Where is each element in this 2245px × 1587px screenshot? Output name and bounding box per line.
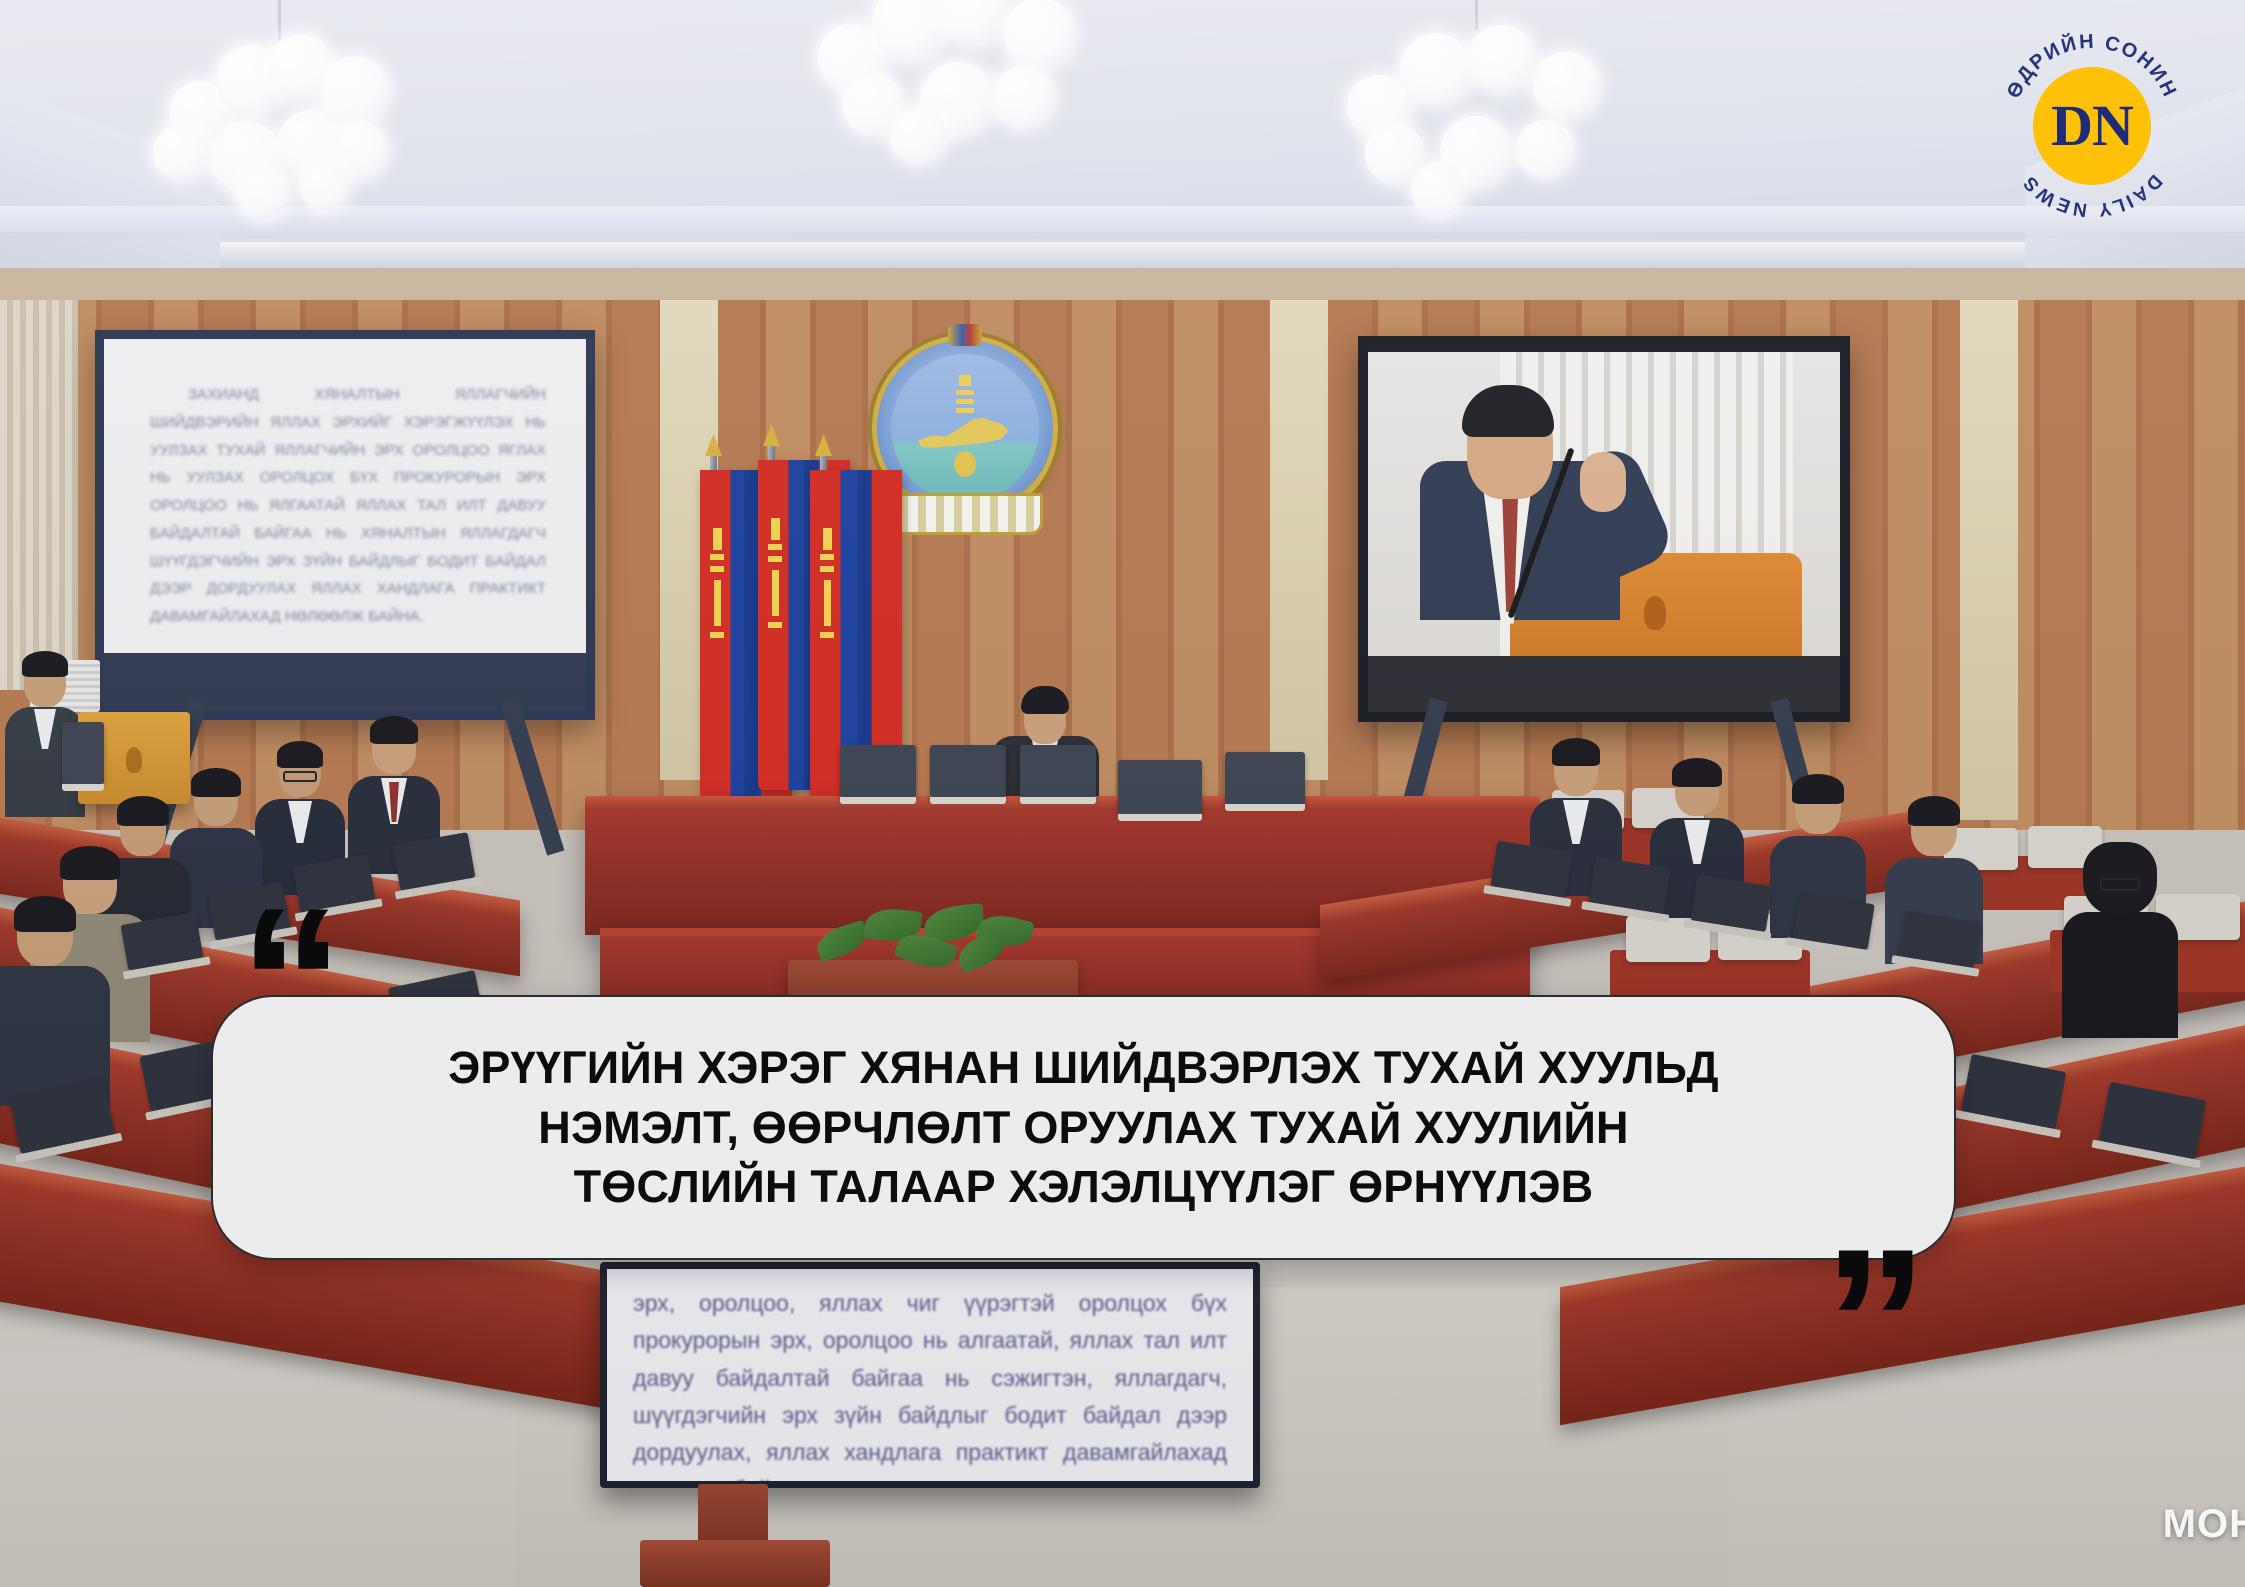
logo-disc: DN bbox=[2033, 67, 2151, 185]
caption-headline: ЭРҮҮГИЙН ХЭРЭГ ХЯНАН ШИЙДВЭРЛЭХ ТУХАЙ ХУ… bbox=[370, 1038, 1797, 1218]
soyombo-symbol bbox=[954, 375, 976, 423]
bottom-monitor-base bbox=[640, 1540, 830, 1587]
video-speaker-hand bbox=[1580, 452, 1626, 512]
emblem-inner bbox=[891, 354, 1039, 502]
delegate-right-3-hair bbox=[1792, 774, 1844, 804]
delegate-right-1-hair bbox=[1552, 738, 1600, 766]
bottom-slide-text: эрх, оролцоо, яллах чиг үүрэгтэй оролцох… bbox=[607, 1269, 1253, 1481]
dais-monitor-1 bbox=[840, 745, 916, 797]
flag-soyombo-2 bbox=[767, 518, 783, 636]
standing-speaker-hair bbox=[22, 651, 68, 677]
delegate-left-2-glasses bbox=[283, 771, 317, 782]
delegate-left-6 bbox=[0, 900, 110, 1100]
delegate-right-5-glasses bbox=[2100, 878, 2140, 891]
dais-monitor-2 bbox=[930, 745, 1006, 797]
broadcaster-watermark: МОН bbox=[2163, 1502, 2245, 1547]
dais-monitor-4 bbox=[1118, 760, 1202, 814]
caption-line-1: ЭРҮҮГИЙН ХЭРЭГ ХЯНАН ШИЙДВЭРЛЭХ ТУХАЙ ХУ… bbox=[448, 1042, 1719, 1093]
delegate-right-5 bbox=[2062, 846, 2178, 1036]
flag-soyombo-1 bbox=[709, 528, 725, 646]
caption-line-2: НЭМЭЛТ, ӨӨРЧЛӨЛТ ОРУУЛАХ ТУХАЙ ХУУЛИЙН bbox=[538, 1102, 1628, 1153]
news-photo-card: ЗАХИАНД ХЯНАЛТЫН ЯЛЛАГЧИЙН ШИЙДВЭРИЙН ЯЛ… bbox=[0, 0, 2245, 1587]
chandelier-left bbox=[148, 20, 408, 200]
window-curtain bbox=[0, 300, 78, 690]
delegate-right-4-hair bbox=[1908, 796, 1960, 826]
emblem-lotus-base bbox=[890, 496, 1040, 532]
dais-monitor-3 bbox=[1020, 745, 1096, 797]
center-plant bbox=[800, 900, 1070, 978]
left-projection-screen: ЗАХИАНД ХЯНАЛТЫН ЯЛЛАГЧИЙН ШИЙДВЭРИЙН ЯЛ… bbox=[95, 330, 595, 720]
wall-pillar-far-right bbox=[1960, 300, 2018, 820]
delegate-left-4-hair bbox=[117, 796, 169, 826]
laptop-right-8 bbox=[1961, 1054, 2066, 1129]
wall-pillar-right bbox=[1270, 300, 1328, 780]
caption-card-wrapper: “ ЭРҮҮГИЙН ХЭРЭГ ХЯНАН ШИЙДВЭРЛЭХ ТУХАЙ … bbox=[211, 995, 1956, 1260]
delegate-left-3-hair bbox=[191, 768, 241, 797]
dais-monitor-5 bbox=[1225, 752, 1305, 804]
mongolian-state-emblem bbox=[877, 340, 1053, 516]
chairman-hair bbox=[1021, 686, 1069, 714]
cornice-inner bbox=[0, 206, 2245, 232]
delegate-left-5-hair bbox=[60, 846, 120, 880]
right-video-screen bbox=[1358, 336, 1850, 722]
flag-soyombo-3 bbox=[819, 528, 835, 646]
chandelier-center bbox=[800, 0, 1100, 146]
caption-card: ЭРҮҮГИЙН ХЭРЭГ ХЯНАН ШИЙДВЭРЛЭХ ТУХАЙ ХУ… bbox=[211, 995, 1956, 1260]
left-slide-paragraph: ЗАХИАНД ХЯНАЛТЫН ЯЛЛАГЧИЙН ШИЙДВЭРИЙН ЯЛ… bbox=[150, 381, 546, 631]
podium-monitor bbox=[62, 722, 104, 784]
daily-news-logo[interactable]: ӨДРИЙН СОНИН DAILY NEWS DN bbox=[1994, 28, 2190, 224]
emblem-wheel bbox=[954, 451, 976, 477]
bottom-slide-monitor: эрх, оролцоо, яллах чиг үүрэгтэй оролцох… bbox=[600, 1262, 1260, 1488]
bottom-slide-paragraph: эрх, оролцоо, яллах чиг үүрэгтэй оролцох… bbox=[633, 1285, 1227, 1488]
delegate-right-2-hair bbox=[1672, 758, 1722, 787]
delegate-left-2-hair bbox=[277, 741, 323, 768]
video-feed bbox=[1368, 352, 1840, 656]
emblem-crown bbox=[948, 324, 982, 346]
flag-fold-1 bbox=[744, 470, 758, 800]
delegate-right-5-body bbox=[2062, 912, 2178, 1038]
logo-monogram: DN bbox=[2051, 97, 2133, 155]
delegate-left-6-hair bbox=[14, 896, 76, 932]
delegate-left-1-hair bbox=[370, 716, 418, 744]
caption-line-3: ТӨСЛИЙН ТАЛААР ХЭЛЭЛЦҮҮЛЭГ ӨРНҮҮЛЭВ bbox=[574, 1161, 1594, 1212]
quote-close-icon: ” bbox=[1823, 1258, 1928, 1388]
plant-leaf-1 bbox=[813, 919, 871, 962]
chandelier-right bbox=[1330, 10, 1620, 200]
